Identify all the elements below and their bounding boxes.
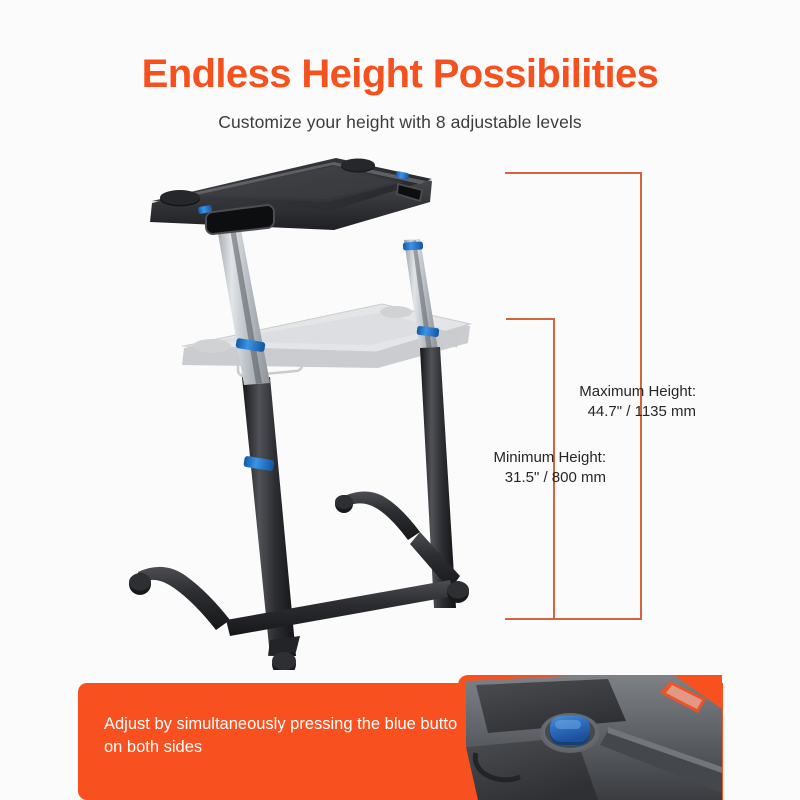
blue-button-closeup-photo [458,675,722,800]
min-height-label: Minimum Height: 31.5" / 800 mm [356,448,606,489]
max-height-label-value: 44.7" / 1135 mm [446,402,696,422]
caster-rear-right [335,495,353,513]
page-subtitle: Customize your height with 8 adjustable … [0,112,800,133]
min-height-label-value: 31.5" / 800 mm [356,468,606,488]
caster-front [272,652,296,670]
blue-adjust-button [550,716,590,745]
page-title: Endless Height Possibilities [0,52,800,97]
caster-right [447,581,469,603]
caption-text: Adjust by simultaneously pressing the bl… [104,713,494,760]
max-height-label: Maximum Height: 44.7" / 1135 mm [446,382,696,423]
max-height-label-title: Maximum Height: [446,382,696,402]
caster-left [129,573,151,595]
blue-collar-right-top [403,241,423,250]
product-feature-image: Endless Height Possibilities Customize y… [0,0,800,800]
base-frame [129,491,469,670]
desktop-tray [150,158,432,234]
min-height-label-title: Minimum Height: [356,448,606,468]
